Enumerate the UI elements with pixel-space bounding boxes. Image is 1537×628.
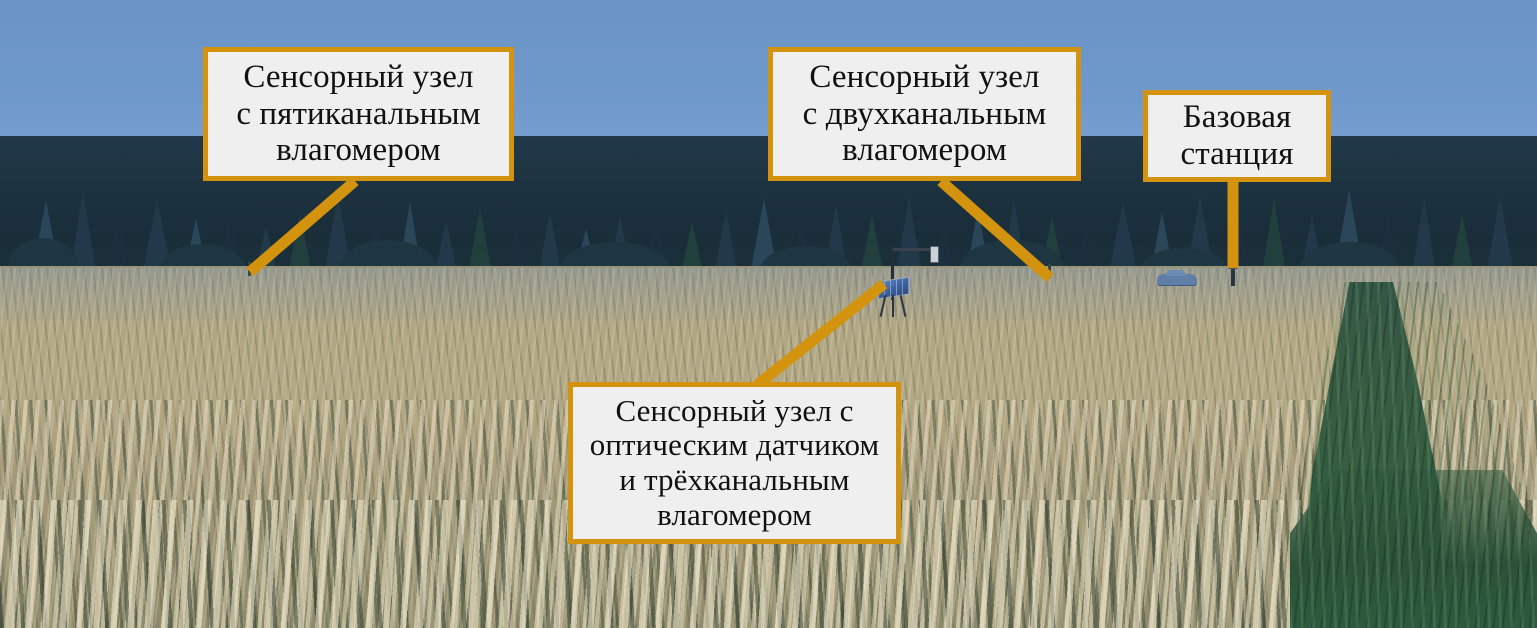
callout-line: Сенсорный узел [243,59,473,96]
callout-line: Сенсорный узел [809,59,1039,96]
callout-line: Базовая [1183,99,1292,136]
callout-two-channel-node: Сенсорный узел с двухканальным влагомеро… [768,47,1081,181]
sensor-arm [893,248,935,251]
tripod-legs [880,295,906,319]
callout-line: Сенсорный узел с [615,394,853,429]
callout-line: влагомером [657,498,812,533]
sensor-node-two-channel [1048,264,1051,278]
callout-optical-node: Сенсорный узел с оптическим датчиком и т… [568,382,901,544]
base-station-pole [1231,262,1235,286]
callout-line: влагомером [842,132,1007,169]
optical-sensor-head [930,246,939,263]
sensor-node-optical [860,236,930,300]
callout-line: и трёхканальным [619,463,849,498]
callout-line: влагомером [276,132,441,169]
horizon-haze [0,268,1537,328]
callout-line: с двухканальным [803,96,1047,133]
annotated-photo: Сенсорный узел с пятиканальным влагомеро… [0,0,1537,628]
callout-line: оптическим датчиком [590,428,880,463]
callout-line: с пятиканальным [236,96,480,133]
parked-car [1157,274,1197,285]
sensor-node-five-channel [248,262,251,276]
callout-base-station: Базовая станция [1143,90,1331,182]
callout-five-channel-node: Сенсорный узел с пятиканальным влагомеро… [203,47,514,181]
callout-line: станция [1181,136,1294,173]
